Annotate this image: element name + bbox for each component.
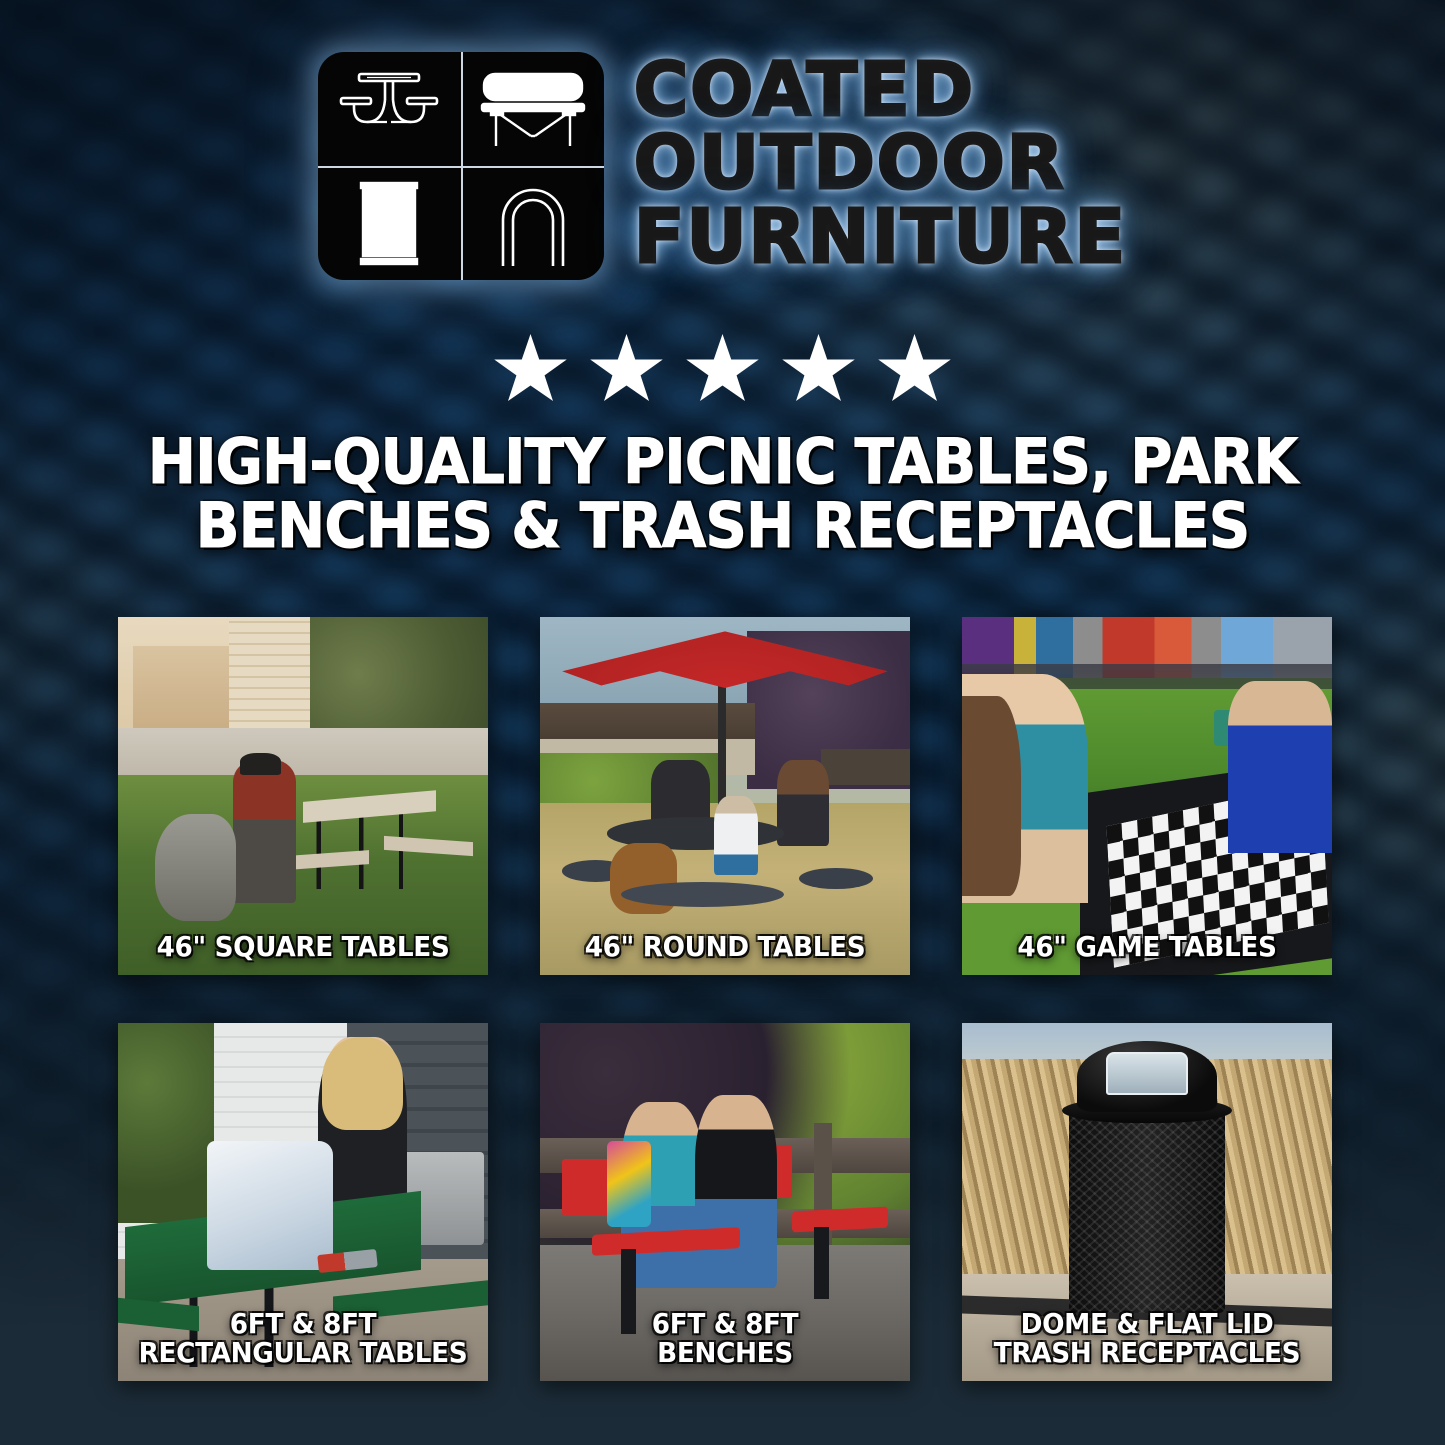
promo-graphic: COATED OUTDOOR FURNITURE HIGH-QUALITY PI… xyxy=(0,0,1445,1445)
wordmark-line-outdoor: OUTDOOR xyxy=(634,128,1066,199)
page-title: HIGH-QUALITY PICNIC TABLES, PARK BENCHES… xyxy=(0,430,1445,558)
product-card-caption: 46" GAME TABLES xyxy=(973,932,1321,961)
headline-line-1: HIGH-QUALITY PICNIC TABLES, PARK xyxy=(106,430,1338,494)
star-icon xyxy=(782,334,856,406)
wordmark-line-coated: COATED xyxy=(634,55,975,126)
star-icon xyxy=(590,334,664,406)
product-card-caption: 6FT & 8FT RECTANGULAR TABLES xyxy=(129,1309,477,1367)
picnic-table-icon xyxy=(318,52,461,166)
wordmark-line-furniture: FURNITURE xyxy=(634,202,1127,273)
star-icon xyxy=(494,334,568,406)
product-photo-round-tables xyxy=(540,617,910,975)
caption-line-2: RECTANGULAR TABLES xyxy=(137,1338,470,1367)
product-card-caption: 46" ROUND TABLES xyxy=(551,932,899,961)
star-icon xyxy=(878,334,952,406)
brand-wordmark: COATED OUTDOOR FURNITURE xyxy=(634,55,1127,276)
product-card-trash-receptacles[interactable]: DOME & FLAT LID TRASH RECEPTACLES xyxy=(962,1023,1332,1381)
product-card-caption: DOME & FLAT LID TRASH RECEPTACLES xyxy=(973,1309,1321,1367)
product-card-benches[interactable]: 6FT & 8FT BENCHES xyxy=(540,1023,910,1381)
product-card-round-tables[interactable]: 46" ROUND TABLES xyxy=(540,617,910,975)
caption-line-1: 46" ROUND TABLES xyxy=(585,930,866,963)
caption-line-1: 46" GAME TABLES xyxy=(1017,930,1276,963)
trash-receptacle-icon xyxy=(318,166,461,280)
product-card-game-tables[interactable]: 46" GAME TABLES xyxy=(962,617,1332,975)
product-card-rectangular-tables[interactable]: 6FT & 8FT RECTANGULAR TABLES xyxy=(118,1023,488,1381)
product-photo-square-tables xyxy=(118,617,488,975)
star-rating xyxy=(0,334,1445,406)
brand-logo-mark[interactable] xyxy=(318,52,604,280)
brand-header: COATED OUTDOOR FURNITURE xyxy=(0,52,1445,280)
product-category-grid: 46" SQUARE TABLES xyxy=(118,617,1326,1381)
bike-rack-icon xyxy=(461,166,604,280)
product-card-caption: 46" SQUARE TABLES xyxy=(129,932,477,961)
caption-line-2: TRASH RECEPTACLES xyxy=(981,1338,1314,1367)
star-icon xyxy=(686,334,760,406)
bench-table-icon xyxy=(461,52,604,166)
headline-line-2: BENCHES & TRASH RECEPTACLES xyxy=(106,494,1338,558)
product-photo-game-tables xyxy=(962,617,1332,975)
product-card-square-tables[interactable]: 46" SQUARE TABLES xyxy=(118,617,488,975)
caption-line-1: 46" SQUARE TABLES xyxy=(157,930,450,963)
product-card-caption: 6FT & 8FT BENCHES xyxy=(551,1309,899,1367)
caption-line-2: BENCHES xyxy=(559,1338,892,1367)
